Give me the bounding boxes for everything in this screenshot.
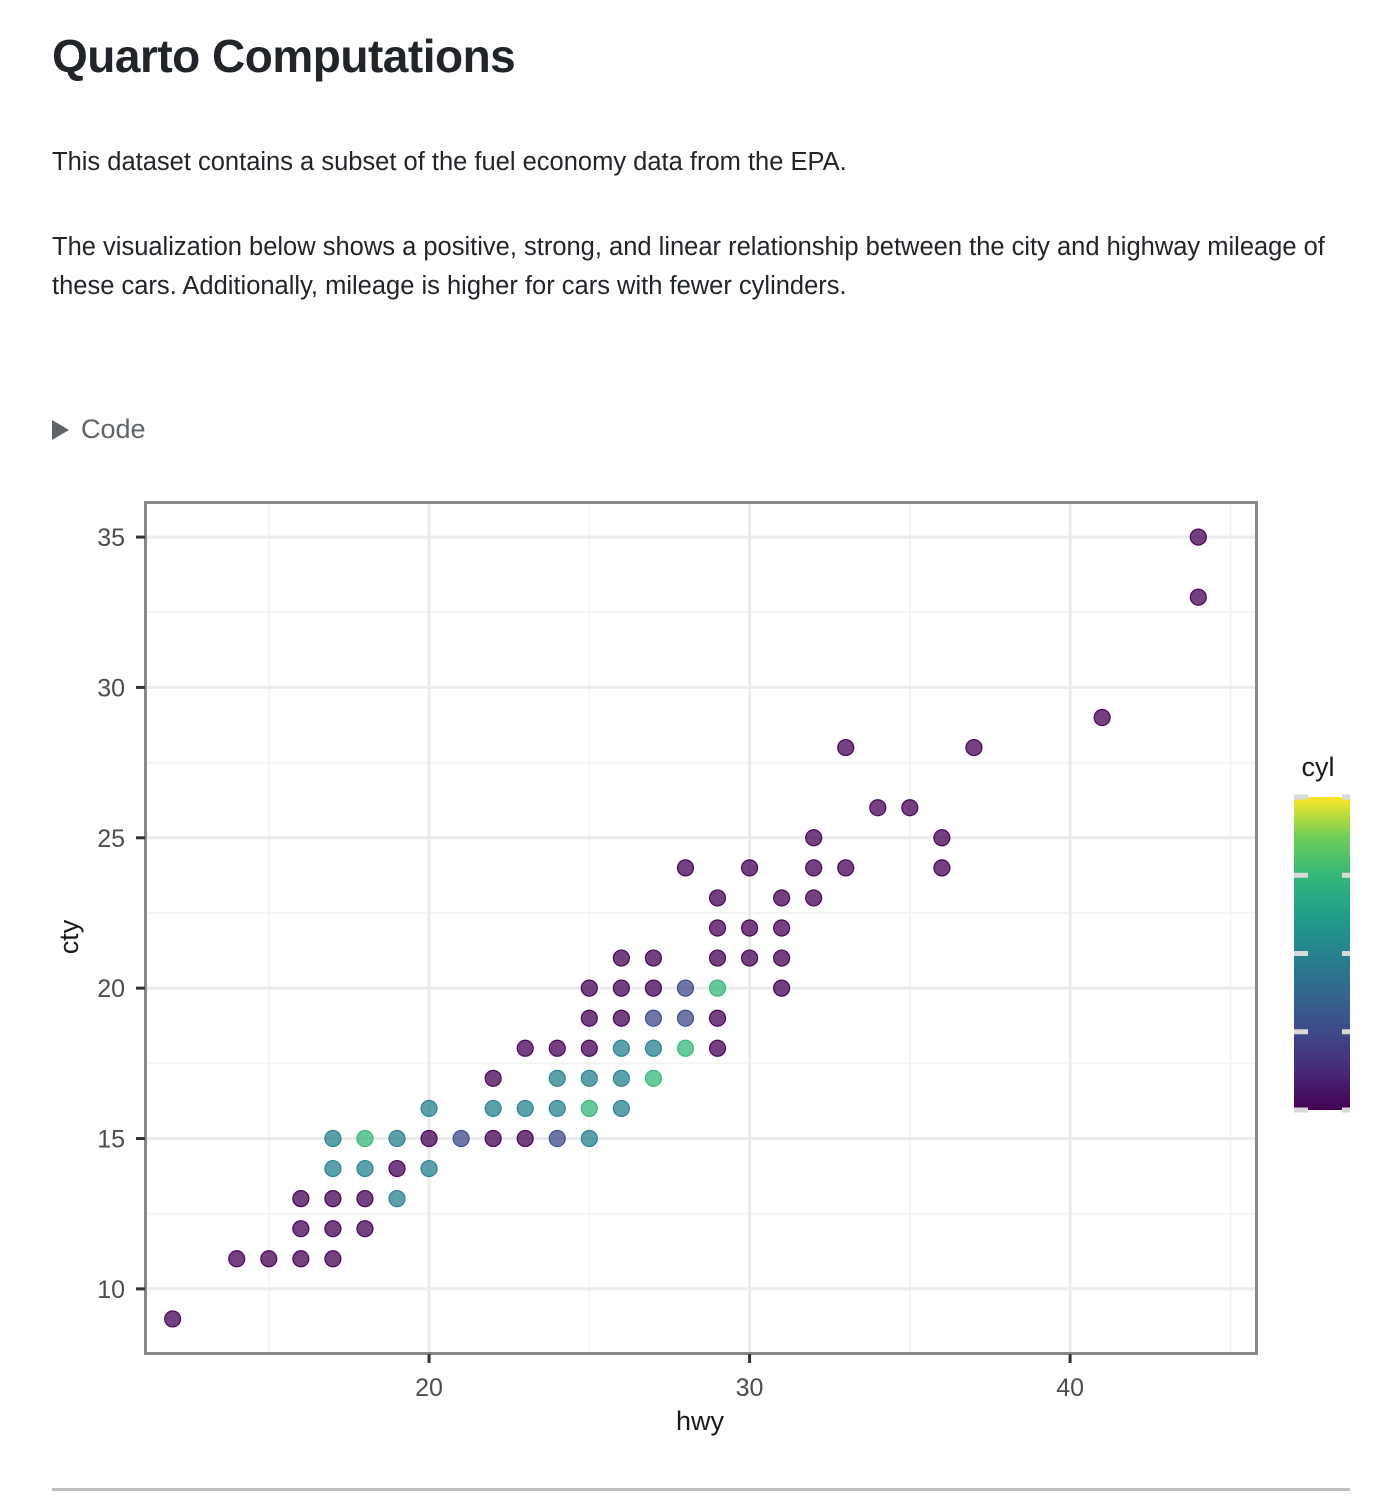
description-paragraph: The visualization below shows a positive… [52,228,1342,306]
svg-text:25: 25 [97,825,125,853]
y-axis-label: cty [54,919,84,954]
scatter-plot-svg: 203040 101520253035 hwy cty cyl [0,490,1400,1470]
svg-text:10: 10 [97,1276,125,1304]
page-root: Quarto Computations This dataset contain… [0,0,1400,1500]
page-title: Quarto Computations [52,30,515,83]
svg-text:40: 40 [1056,1374,1084,1402]
y-axis: 101520253035 [97,524,145,1304]
plot-gridlines [147,504,1256,1352]
code-disclosure-label: Code [81,414,146,445]
triangle-right-icon [52,420,69,440]
svg-text:20: 20 [97,975,125,1003]
svg-text:30: 30 [97,674,125,702]
svg-text:35: 35 [97,524,125,552]
legend-title: cyl [1302,752,1335,782]
svg-text:15: 15 [97,1125,125,1153]
svg-text:30: 30 [736,1374,764,1402]
x-axis: 203040 [415,1354,1084,1402]
intro-paragraph: This dataset contains a subset of the fu… [52,143,1342,182]
section-divider [52,1488,1350,1491]
scatter-plot-figure: 203040 101520253035 hwy cty cyl [0,490,1400,1470]
svg-text:20: 20 [415,1374,443,1402]
legend-colorbar[interactable]: cyl [1294,752,1350,1110]
x-axis-label: hwy [676,1406,725,1436]
code-disclosure-toggle[interactable]: Code [52,414,146,445]
